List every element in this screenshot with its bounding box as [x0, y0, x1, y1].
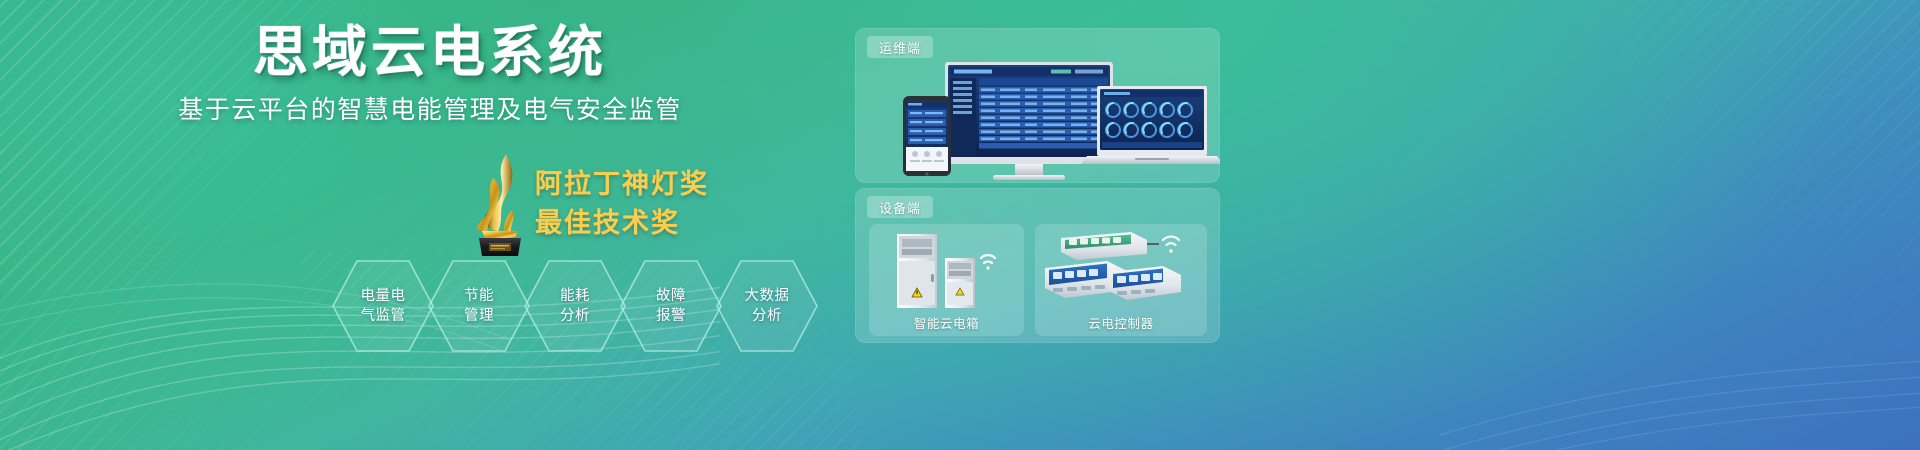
awards-block: 阿拉丁神灯奖 最佳技术奖: [535, 165, 835, 243]
promo-banner: 思域云电系统 基于云平台的智慧电能管理及电气安全监管: [0, 0, 1920, 450]
module-green: [1061, 232, 1147, 260]
banner-text-column: 思域云电系统 基于云平台的智慧电能管理及电气安全监管: [0, 0, 860, 450]
feature-badge-label-line1: 能耗: [533, 286, 617, 306]
wifi-icon: [981, 255, 995, 269]
page-title: 思域云电系统: [0, 20, 860, 84]
module-blue-right: [1109, 266, 1181, 300]
controller-module-icon: [1035, 228, 1207, 312]
device-card-cabinet-label: 智能云电箱: [869, 313, 1024, 332]
smartphone-icon: [903, 96, 951, 176]
diagonal-hatch-texture-right: [1620, 0, 1920, 450]
laptop-icon: [1081, 86, 1220, 164]
panel-devices-body: 智能云电箱: [855, 218, 1220, 337]
feature-badge-label: 故障 报警: [629, 286, 713, 326]
award-line-1: 阿拉丁神灯奖: [535, 165, 835, 204]
feature-badge-1[interactable]: 电量电 气监管: [330, 258, 436, 354]
feature-badge-5[interactable]: 大数据 分析: [714, 258, 820, 354]
feature-badge-label-line1: 故障: [629, 286, 713, 306]
device-card-controller[interactable]: 云电控制器: [1035, 224, 1207, 336]
feature-badge-label-line2: 报警: [629, 306, 713, 326]
feature-badge-label: 节能 管理: [437, 286, 521, 326]
feature-badge-3[interactable]: 能耗 分析: [522, 258, 628, 354]
feature-badge-row: 电量电 气监管 节能 管理 能耗 分析: [330, 258, 850, 358]
wave-decoration-right: [1440, 250, 1920, 450]
feature-badge-label-line2: 分析: [725, 306, 809, 326]
panel-devices-tag: 设备端: [867, 196, 933, 218]
feature-badge-label-line1: 电量电: [341, 286, 425, 306]
award-line-2: 最佳技术奖: [535, 204, 835, 243]
feature-badge-label-line2: 气监管: [341, 306, 425, 326]
operations-devices-illustration: [855, 58, 1220, 183]
feature-badge-4[interactable]: 故障 报警: [618, 258, 724, 354]
panel-operations: 运维端: [855, 28, 1220, 183]
panel-operations-tag: 运维端: [867, 36, 933, 58]
trophy-icon: [460, 148, 540, 258]
feature-badge-label: 电量电 气监管: [341, 286, 425, 326]
page-subtitle: 基于云平台的智慧电能管理及电气安全监管: [0, 93, 860, 127]
device-card-controller-label: 云电控制器: [1035, 313, 1207, 332]
wifi-icon: [1163, 237, 1179, 253]
electrical-cabinet-icon: [869, 228, 1024, 312]
panel-devices: 设备端: [855, 188, 1220, 343]
device-card-cabinet[interactable]: 智能云电箱: [869, 224, 1024, 336]
feature-badge-2[interactable]: 节能 管理: [426, 258, 532, 354]
feature-badge-label-line1: 大数据: [725, 286, 809, 306]
panel-operations-body: [855, 58, 1220, 177]
feature-badge-label: 能耗 分析: [533, 286, 617, 326]
feature-badge-label: 大数据 分析: [725, 286, 809, 326]
feature-badge-label-line2: 分析: [533, 306, 617, 326]
feature-badge-label-line1: 节能: [437, 286, 521, 306]
feature-badge-label-line2: 管理: [437, 306, 521, 326]
